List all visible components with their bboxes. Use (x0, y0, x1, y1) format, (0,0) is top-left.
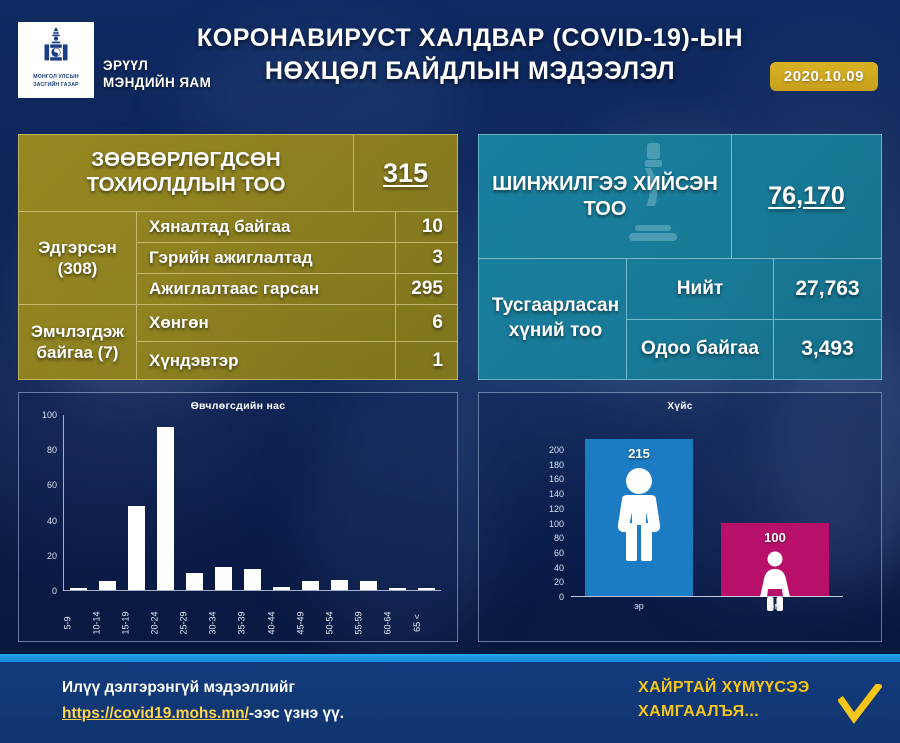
table-row-group-isolated: Тусгаарласан хүний тоо Нийт 27,763 Одоо … (479, 259, 881, 379)
y-axis-tick: 0 (52, 586, 57, 596)
bar-value-label: 100 (764, 530, 786, 545)
checkmark-icon (838, 684, 882, 724)
table-row: Гэрийн ажиглалтад 3 (137, 242, 457, 273)
logo-caption-line2: ЗАСГИЙН ГАЗАР (33, 82, 79, 90)
age-chart-title: Өвчлөгсдийн нас (19, 400, 457, 412)
y-axis-tick: 140 (549, 489, 564, 499)
x-axis-tick: 50-54 (326, 593, 355, 639)
bar (389, 588, 406, 590)
row-label: Хөнгөн (137, 305, 395, 342)
bar-column (238, 415, 267, 590)
y-axis-tick: 40 (554, 563, 564, 573)
y-axis-tick: 160 (549, 474, 564, 484)
gender-chart-plot-area: 215100 020406080100120140160180200 (571, 439, 843, 597)
bar (273, 587, 290, 591)
x-axis-tick: 10-14 (93, 593, 122, 639)
x-axis (571, 596, 843, 597)
footer: Илүү дэлгэрэнгүй мэдээллийг https://covi… (0, 662, 900, 743)
y-axis-tick: 0 (559, 592, 564, 602)
cases-title: ЗӨӨВӨРЛӨГДСӨН ТОХИОЛДЛЫН ТОО (19, 135, 353, 211)
bar-column: 215 (571, 439, 707, 596)
bar (157, 427, 174, 590)
bar-column (354, 415, 383, 590)
y-axis-tick: 20 (554, 577, 564, 587)
bar (331, 580, 348, 591)
row-label: Ажиглалтаас гарсан (137, 274, 395, 304)
bar-column (151, 415, 180, 590)
row-label: Одоо байгаа (627, 320, 773, 380)
bar (128, 506, 145, 590)
row-value: 3 (395, 243, 457, 273)
cases-summary-table: ЗӨӨВӨРЛӨГДСӨН ТОХИОЛДЛЫН ТОО 315 Эдгэрсэ… (18, 134, 458, 380)
male-figure-icon (609, 467, 669, 568)
bar (186, 573, 203, 591)
table-row: Нийт 27,763 (627, 259, 881, 319)
y-axis-tick: 200 (549, 445, 564, 455)
footer-slogan: ХАЙРТАЙ ХҮМҮҮСЭЭ ХАМГААЛЪЯ... (638, 676, 810, 724)
x-axis-tick: 35-39 (238, 593, 267, 639)
logo-caption-line1: МОНГОЛ УЛСЫН (33, 74, 79, 82)
tests-total-value: 76,170 (731, 135, 881, 258)
bar: 215 (585, 439, 694, 596)
bar-column (267, 415, 296, 590)
footer-accent-stripe (0, 654, 900, 662)
row-label: Гэрийн ажиглалтад (137, 243, 395, 273)
bar-column (383, 415, 412, 590)
x-axis-tick: 30-34 (209, 593, 238, 639)
table-row-group-treating: Эмчлэгдэж байгаа (7) Хөнгөн 6 Хүндэвтэр … (19, 304, 457, 379)
isolated-group-label: Тусгаарласан хүний тоо (479, 259, 627, 379)
bar (244, 569, 261, 590)
male-figure-icon (609, 467, 669, 563)
age-chart-plot-area: 020406080100 (63, 415, 441, 591)
bar-column (412, 415, 441, 590)
y-axis-tick: 80 (47, 445, 57, 455)
age-chart-x-labels: 5-910-1415-1920-2425-2930-3435-3940-4445… (64, 593, 442, 639)
x-axis-tick: 20-24 (151, 593, 180, 639)
treating-group-label: Эмчлэгдэж байгаа (7) (19, 305, 137, 379)
x-axis-tick: 40-44 (268, 593, 297, 639)
bar-column (122, 415, 151, 590)
header: МОНГОЛ УЛСЫН ЗАСГИЙН ГАЗАР ЭРҮҮЛ МЭНДИЙН… (0, 0, 900, 118)
row-value: 27,763 (773, 259, 881, 319)
footer-line-1: Илүү дэлгэрэнгүй мэдээллийг (62, 675, 344, 701)
report-date-badge: 2020.10.09 (770, 62, 878, 91)
recovered-group-label: Эдгэрсэн (308) (19, 212, 137, 304)
y-axis-tick: 80 (554, 533, 564, 543)
bar: 100 (721, 523, 830, 596)
page-title-line-1: КОРОНАВИРУСТ ХАЛДВАР (COVID-19)-ЫН (170, 22, 770, 55)
bar (302, 581, 319, 590)
x-axis-tick: 25-29 (180, 593, 209, 639)
y-axis-tick: 100 (549, 519, 564, 529)
row-value: 295 (395, 274, 457, 304)
row-value: 10 (395, 212, 457, 242)
age-bars (64, 415, 441, 590)
x-axis-tick: 60-64 (384, 593, 413, 639)
gender-chart-title: Хүйс (479, 401, 881, 412)
bar (360, 581, 377, 590)
row-value: 6 (395, 305, 457, 342)
logo-caption: МОНГОЛ УЛСЫН ЗАСГИЙН ГАЗАР (33, 74, 79, 89)
soyombo-emblem-icon (36, 26, 76, 72)
bar (215, 567, 232, 590)
bar (418, 588, 435, 590)
footer-line-2: https://covid19.mohs.mn/-ээс үзнэ үү. (62, 701, 344, 727)
tests-summary-table: ШИНЖИЛГЭЭ ХИЙСЭН ТОО 76,170 Тусгаарласан… (478, 134, 882, 380)
bar-column (180, 415, 209, 590)
bar (99, 581, 116, 590)
y-axis-tick: 60 (554, 548, 564, 558)
x-axis-tick: эм (707, 601, 843, 611)
bar-column (296, 415, 325, 590)
bar-column (325, 415, 354, 590)
tests-title: ШИНЖИЛГЭЭ ХИЙСЭН ТОО (479, 135, 731, 258)
table-row: Хөнгөн 6 (137, 305, 457, 342)
bar-column (209, 415, 238, 590)
bar-value-label: 215 (628, 446, 650, 461)
x-axis-tick: эр (571, 601, 707, 611)
cases-total-value: 315 (353, 135, 457, 211)
covid-website-link[interactable]: https://covid19.mohs.mn/ (62, 705, 249, 722)
row-label: Хяналтад байгаа (137, 212, 395, 242)
bar-column (64, 415, 93, 590)
gender-distribution-chart: Хүйс 215100 020406080100120140160180200 … (478, 392, 882, 642)
row-value: 3,493 (773, 320, 881, 380)
y-axis-tick: 20 (47, 551, 57, 561)
row-label: Нийт (627, 259, 773, 319)
x-axis (63, 590, 441, 591)
row-value: 1 (395, 342, 457, 379)
x-axis-tick: 45-49 (297, 593, 326, 639)
table-row: Одоо байгаа 3,493 (627, 319, 881, 380)
table-row: Ажиглалтаас гарсан 295 (137, 273, 457, 304)
page-title: КОРОНАВИРУСТ ХАЛДВАР (COVID-19)-ЫН НӨХЦӨ… (170, 22, 770, 87)
y-axis-tick: 40 (47, 516, 57, 526)
x-axis-tick: 55-59 (355, 593, 384, 639)
government-logo: МОНГОЛ УЛСЫН ЗАСГИЙН ГАЗАР (18, 22, 94, 98)
bar (70, 588, 87, 590)
bar-column (93, 415, 122, 590)
x-axis-tick: 65 < (413, 593, 442, 639)
bar-column: 100 (707, 439, 843, 596)
table-row-group-recovered: Эдгэрсэн (308) Хяналтад байгаа 10 Гэрийн… (19, 211, 457, 304)
gender-chart-x-labels: эрэм (571, 601, 843, 611)
slogan-line-2: ХАМГААЛЪЯ... (638, 700, 810, 724)
footer-info: Илүү дэлгэрэнгүй мэдээллийг https://covi… (62, 675, 344, 726)
infographic-page: МОНГОЛ УЛСЫН ЗАСГИЙН ГАЗАР ЭРҮҮЛ МЭНДИЙН… (0, 0, 900, 743)
gender-bars: 215100 (571, 439, 843, 596)
row-label: Хүндэвтэр (137, 342, 395, 379)
y-axis-tick: 180 (549, 460, 564, 470)
footer-link-suffix: -ээс үзнэ үү. (249, 705, 344, 722)
y-axis-tick: 100 (42, 410, 57, 420)
table-row: Хүндэвтэр 1 (137, 341, 457, 379)
table-row: ЗӨӨВӨРЛӨГДСӨН ТОХИОЛДЛЫН ТОО 315 (19, 135, 457, 211)
age-distribution-chart: Өвчлөгсдийн нас 020406080100 5-910-1415-… (18, 392, 458, 642)
y-axis-tick: 60 (47, 480, 57, 490)
y-axis-tick: 120 (549, 504, 564, 514)
x-axis-tick: 15-19 (122, 593, 151, 639)
page-title-line-2: НӨХЦӨЛ БАЙДЛЫН МЭДЭЭЛЭЛ (170, 55, 770, 88)
table-row: Хяналтад байгаа 10 (137, 212, 457, 242)
x-axis-tick: 5-9 (64, 593, 93, 639)
table-row: ШИНЖИЛГЭЭ ХИЙСЭН ТОО 76,170 (479, 135, 881, 259)
slogan-line-1: ХАЙРТАЙ ХҮМҮҮСЭЭ (638, 676, 810, 700)
